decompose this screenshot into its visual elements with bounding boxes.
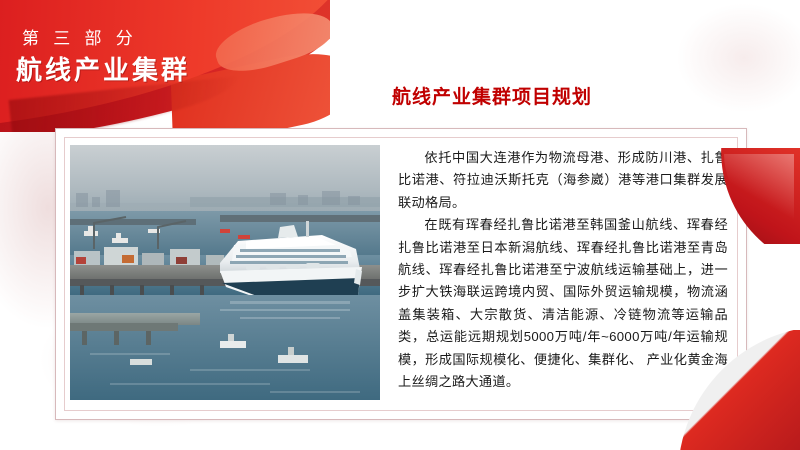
section-title: 航线产业集群 [16, 50, 190, 87]
page-title: 航线产业集群项目规划 [262, 82, 722, 109]
body-text: 依托中国大连港作为物流母港、形成防川港、扎鲁比诺港、符拉迪沃斯托克（海参崴）港等… [398, 147, 728, 393]
photo-artwork [70, 145, 380, 400]
body-paragraph-2: 在既有珲春经扎鲁比诺港至韩国釜山航线、珲春经扎鲁比诺港至日本新潟航线、珲春经扎鲁… [398, 214, 728, 393]
section-number: 第 三 部 分 [22, 24, 138, 49]
cruise-ship-port-photo [70, 145, 380, 400]
section-heading-group: 第 三 部 分 航线产业集群 [0, 0, 330, 132]
body-paragraph-1: 依托中国大连港作为物流母港、形成防川港、扎鲁比诺港、符拉迪沃斯托克（海参崴）港等… [398, 147, 728, 214]
slide: 第 三 部 分 航线产业集群 航线产业集群项目规划 [0, 0, 800, 450]
